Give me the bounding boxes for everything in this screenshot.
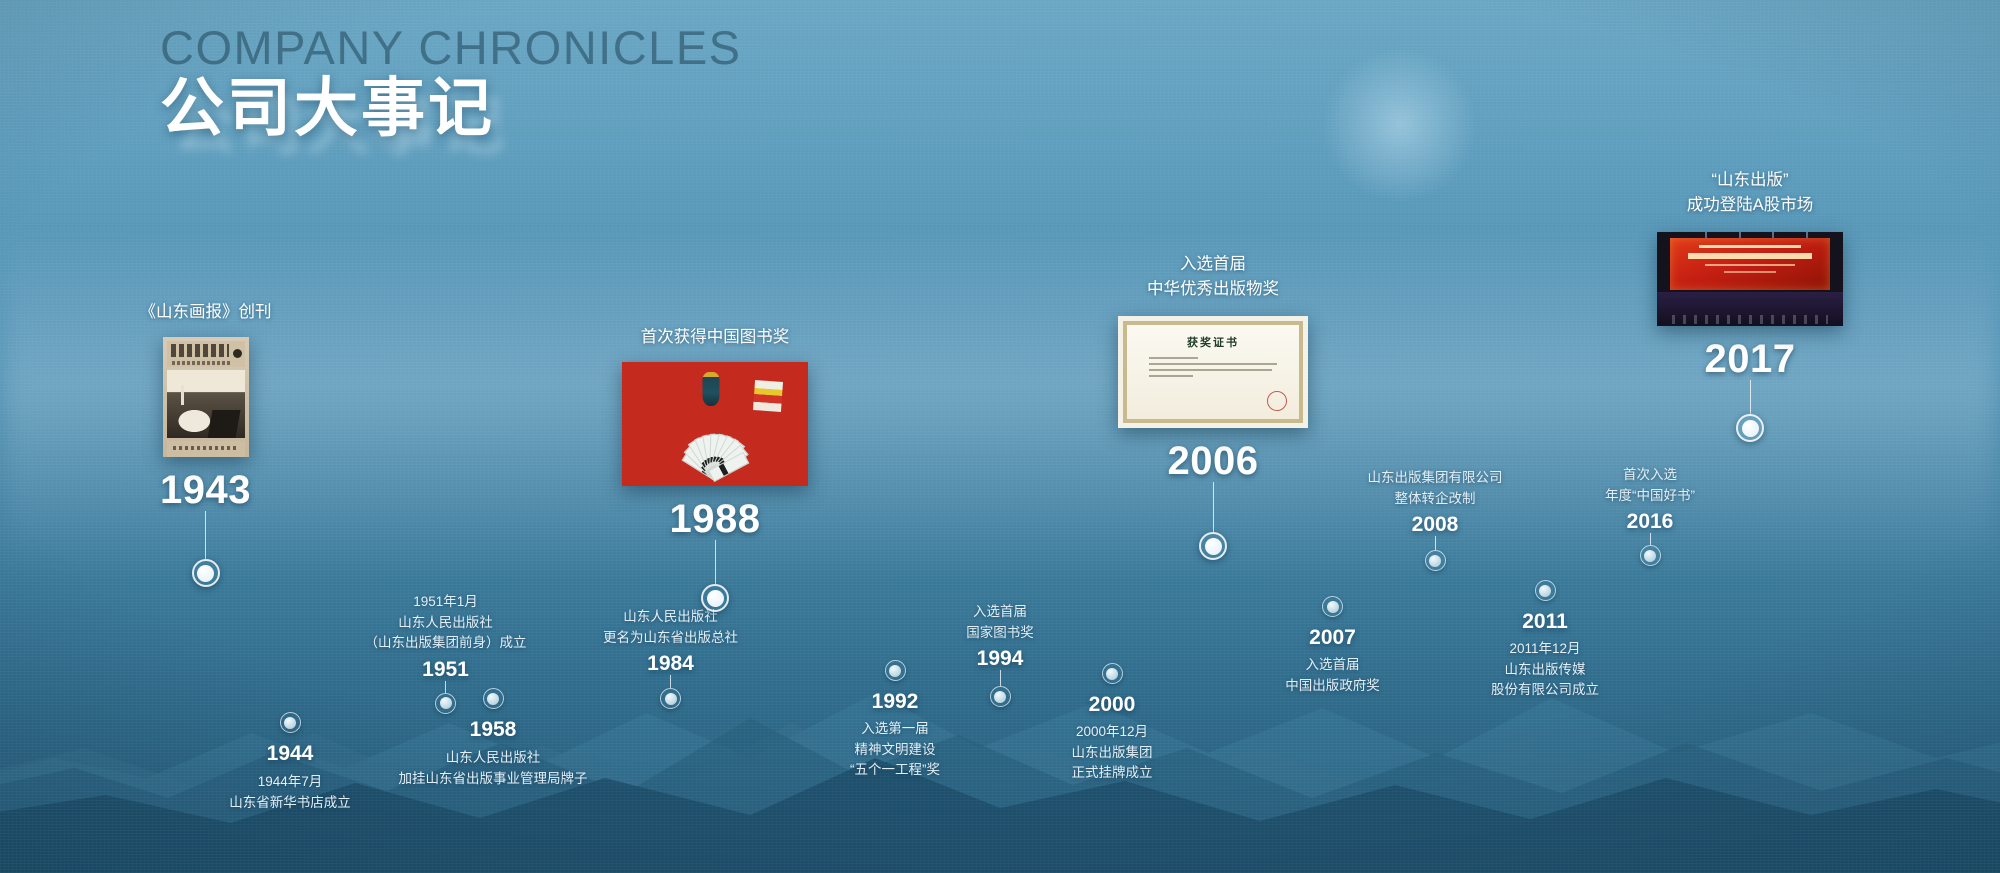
timeline-event-2000[interactable]: 2000 2000年12月 山东出版集团 正式挂牌成立: [1032, 663, 1192, 784]
event-caption-2016-line1: 首次入选: [1623, 465, 1677, 486]
event-caption-1958-line1: 山东人民出版社: [446, 748, 541, 769]
event-node-2000[interactable]: [1102, 663, 1123, 684]
timeline-event-2008[interactable]: 山东出版集团有限公司 整体转企改制 2008: [1320, 468, 1550, 571]
event-stem-2016: [1650, 533, 1651, 545]
event-caption-2007-line2: 中国出版政府奖: [1285, 676, 1380, 697]
event-node-2011[interactable]: [1535, 580, 1556, 601]
event-caption-2008-line2: 整体转企改制: [1395, 489, 1476, 510]
page-header: COMPANY CHRONICLES 公司大事记 公司大事记: [160, 24, 742, 149]
event-node-2007[interactable]: [1322, 596, 1343, 617]
event-caption-2000-line1: 2000年12月: [1076, 722, 1148, 743]
timeline-event-2011[interactable]: 2011 2011年12月 山东出版传媒 股份有限公司成立: [1455, 580, 1635, 701]
event-stem-2017: [1750, 380, 1751, 414]
event-year-1958: 1958: [470, 719, 517, 741]
timeline-event-1944[interactable]: 1944 1944年7月 山东省新华书店成立: [215, 712, 365, 813]
event-caption-1992-line2: 精神文明建设: [855, 740, 936, 761]
event-year-2006: 2006: [1168, 440, 1259, 482]
event-caption-1988: 首次获得中国图书奖: [641, 325, 790, 350]
event-stem-1943: [205, 511, 206, 559]
event-caption-1984-line2: 更名为山东省出版总社: [603, 628, 738, 649]
event-caption-1943: 《山东画报》创刊: [140, 300, 272, 325]
event-node-1984[interactable]: [660, 688, 681, 709]
event-year-1951: 1951: [422, 659, 469, 681]
event-caption-1994-line1: 入选首届: [973, 602, 1027, 623]
event-node-1958[interactable]: [483, 688, 504, 709]
event-node-2017[interactable]: [1736, 414, 1764, 442]
timeline-event-2016[interactable]: 首次入选 年度“中国好书” 2016: [1570, 465, 1730, 566]
event-node-2008[interactable]: [1425, 550, 1446, 571]
event-caption-1944-line1: 1944年7月: [258, 772, 323, 793]
china-book-award-photo-1988: [622, 362, 808, 486]
event-caption-2017-line2: 成功登陆A股市场: [1687, 193, 1814, 218]
event-stem-2006: [1213, 482, 1214, 532]
event-year-2008: 2008: [1412, 514, 1459, 536]
event-caption-1992-line1: 入选第一届: [861, 719, 929, 740]
certificate-title: 获奖证书: [1187, 334, 1239, 350]
event-node-2006[interactable]: [1199, 532, 1227, 560]
timeline-event-2017[interactable]: “山东出版” 成功登陆A股市场 2017: [1640, 168, 1860, 442]
listing-ceremony-photo-2017: [1657, 232, 1843, 326]
event-caption-1994-line2: 国家图书奖: [966, 623, 1034, 644]
event-stem-1984: [670, 675, 671, 688]
event-year-1992: 1992: [872, 691, 919, 713]
event-caption-2006-line1: 入选首届: [1180, 252, 1246, 277]
infographic-canvas: COMPANY CHRONICLES 公司大事记 公司大事记 《山东画报》创刊 …: [0, 0, 2000, 873]
event-caption-2008-line1: 山东出版集团有限公司: [1368, 468, 1503, 489]
event-year-1943: 1943: [160, 469, 251, 511]
event-year-2011: 2011: [1522, 611, 1568, 633]
timeline-event-1943[interactable]: 《山东画报》创刊 1943: [128, 300, 283, 587]
event-caption-2007-line1: 入选首届: [1306, 655, 1360, 676]
event-year-2017: 2017: [1705, 338, 1796, 380]
event-year-1944: 1944: [267, 743, 314, 765]
event-caption-2016-line2: 年度“中国好书”: [1605, 486, 1695, 507]
event-node-2016[interactable]: [1640, 545, 1661, 566]
event-caption-1992-line3: “五个一工程”奖: [850, 760, 940, 781]
event-node-1992[interactable]: [885, 660, 906, 681]
magazine-cover-photo-1943: [163, 337, 249, 457]
timeline-event-1984[interactable]: 山东人民出版社 更名为山东省出版总社 1984: [578, 607, 763, 709]
event-caption-2011-line3: 股份有限公司成立: [1491, 680, 1599, 701]
event-stem-1988: [715, 540, 716, 584]
event-caption-2017-line1: “山东出版”: [1712, 168, 1789, 193]
event-stem-1994: [1000, 670, 1001, 686]
event-node-1943[interactable]: [192, 559, 220, 587]
event-caption-1951-line1: 1951年1月: [413, 592, 478, 613]
award-certificate-photo-2006: 获奖证书: [1118, 316, 1308, 428]
event-caption-2006-line2: 中华优秀出版物奖: [1147, 277, 1279, 302]
event-caption-2011-line2: 山东出版传媒: [1505, 660, 1586, 681]
event-year-1988: 1988: [670, 498, 761, 540]
event-caption-1944-line2: 山东省新华书店成立: [229, 793, 351, 814]
event-year-2016: 2016: [1627, 511, 1674, 533]
certificate-seal-icon: [1267, 391, 1287, 411]
event-caption-1958-line2: 加挂山东省出版事业管理局牌子: [399, 769, 588, 790]
event-caption-2000-line2: 山东出版集团: [1072, 743, 1153, 764]
timeline-event-2006[interactable]: 入选首届 中华优秀出版物奖 获奖证书 2006: [1118, 252, 1308, 560]
timeline-event-1988[interactable]: 首次获得中国图书奖 1988: [620, 325, 810, 612]
event-year-2007: 2007: [1309, 627, 1356, 649]
event-caption-2000-line3: 正式挂牌成立: [1072, 763, 1153, 784]
event-caption-1951-line2: 山东人民出版社: [398, 613, 493, 634]
event-node-1994[interactable]: [990, 686, 1011, 707]
page-title: 公司大事记: [160, 57, 742, 149]
event-stem-2008: [1435, 536, 1436, 550]
event-year-2000: 2000: [1089, 694, 1136, 716]
event-year-1984: 1984: [647, 653, 694, 675]
timeline-event-2007[interactable]: 2007 入选首届 中国出版政府奖: [1255, 596, 1410, 696]
event-year-1994: 1994: [977, 648, 1024, 670]
event-caption-2011-line1: 2011年12月: [1509, 639, 1580, 660]
event-node-1988[interactable]: [701, 584, 729, 612]
event-caption-1951-line3: （山东出版集团前身）成立: [365, 633, 527, 654]
event-node-1944[interactable]: [280, 712, 301, 733]
